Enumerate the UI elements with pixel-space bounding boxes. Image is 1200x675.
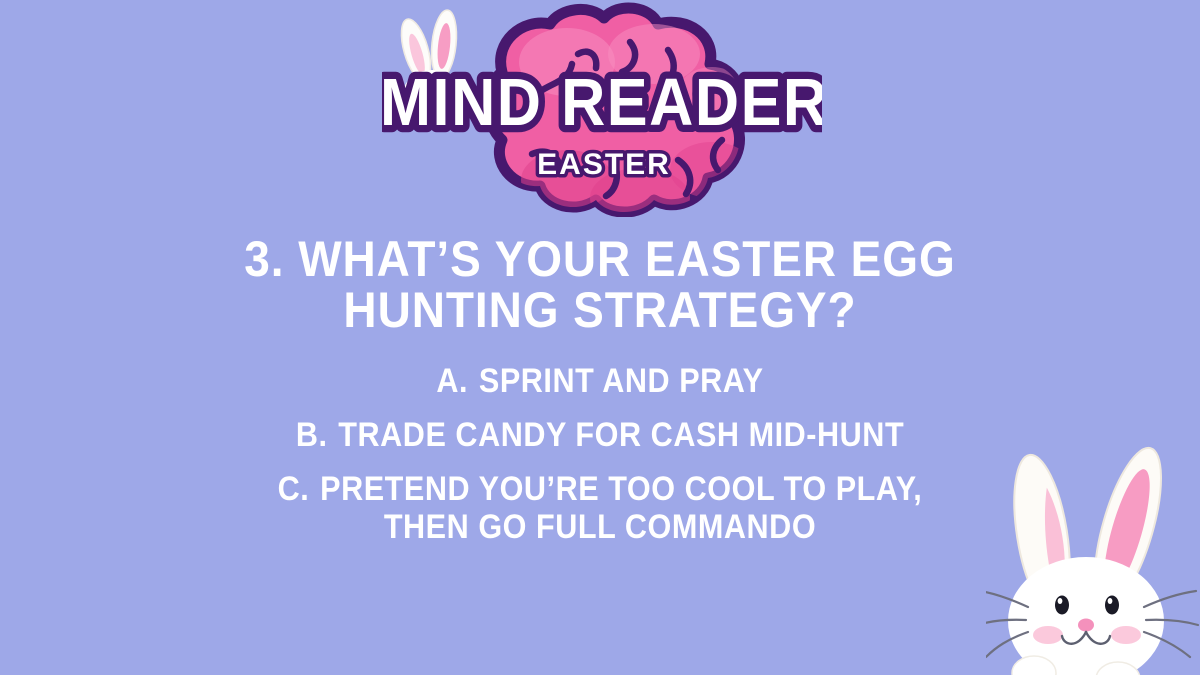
logo-svg: MIND READER EASTER — [382, 2, 822, 217]
logo-title-text: MIND READER — [382, 65, 822, 140]
bunny-svg — [986, 429, 1200, 675]
bunny-icon — [986, 429, 1200, 675]
answer-b-text: TRADE CANDY FOR CASH MID-HUNT — [338, 416, 904, 454]
mind-reader-logo: MIND READER EASTER — [382, 2, 822, 217]
answer-c-letter: C. — [278, 470, 310, 508]
slide-canvas: MIND READER EASTER 3. WHAT’S YOUR EASTER… — [0, 0, 1200, 675]
answer-c-line-1: C.PRETEND YOU’RE TOO COOL TO PLAY, — [60, 470, 1140, 508]
answer-c-text-1: PRETEND YOU’RE TOO COOL TO PLAY, — [320, 470, 922, 508]
answer-b-line-1: B.TRADE CANDY FOR CASH MID-HUNT — [60, 416, 1140, 454]
answer-a-letter: A. — [436, 362, 468, 400]
question-line-2: HUNTING STRATEGY? — [48, 285, 1152, 336]
answer-b-letter: B. — [296, 416, 328, 454]
bunny-nose — [1078, 619, 1094, 632]
logo-subtitle-text: EASTER — [537, 148, 671, 181]
bunny-cheek-left — [1033, 626, 1063, 644]
answer-a-text: SPRINT AND PRAY — [479, 362, 764, 400]
bunny-cheek-right — [1111, 626, 1141, 644]
answer-option-a[interactable]: A.SPRINT AND PRAY — [0, 362, 1200, 400]
answer-a-line-1: A.SPRINT AND PRAY — [60, 362, 1140, 400]
logo-wordmark: MIND READER — [382, 65, 822, 140]
question-line-1: 3. WHAT’S YOUR EASTER EGG — [48, 234, 1152, 285]
answer-c-line-2: THEN GO FULL COMMANDO — [60, 508, 1140, 546]
question-block: 3. WHAT’S YOUR EASTER EGG HUNTING STRATE… — [0, 234, 1200, 336]
